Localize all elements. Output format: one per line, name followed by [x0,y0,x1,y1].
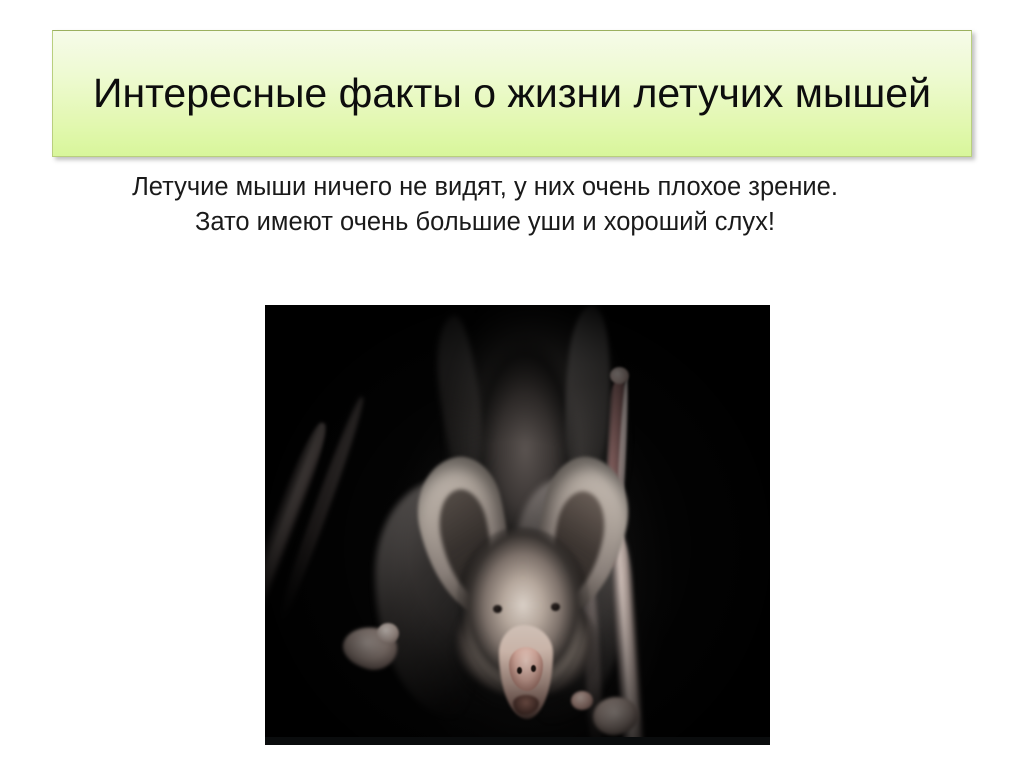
body-line-2: Зато имеют очень большие уши и хороший с… [40,205,930,240]
bat-right-eye [551,603,560,611]
title-line-1: Интересные факты о жизни летучих [93,70,783,116]
bat-left-thumb-claw [377,623,399,644]
body-paragraph: Летучие мыши ничего не видят, у них очен… [40,170,930,239]
photo-bottom-edge [265,737,770,745]
bat-photo [265,305,770,745]
body-line-1: Летучие мыши ничего не видят, у них очен… [40,170,930,205]
bat-right-nostril [531,665,536,672]
bat-wing-joint [610,367,629,384]
bat-left-eye [493,605,502,613]
slide-canvas: { "slide": { "background_color": "#fffff… [0,0,1024,768]
title-line-2: мышей [795,70,931,116]
bat-left-nostril [517,667,522,674]
page-title: Интересные факты о жизни летучих мышей [72,69,952,118]
title-box: Интересные факты о жизни летучих мышей [52,30,972,157]
photo-background [265,305,770,745]
